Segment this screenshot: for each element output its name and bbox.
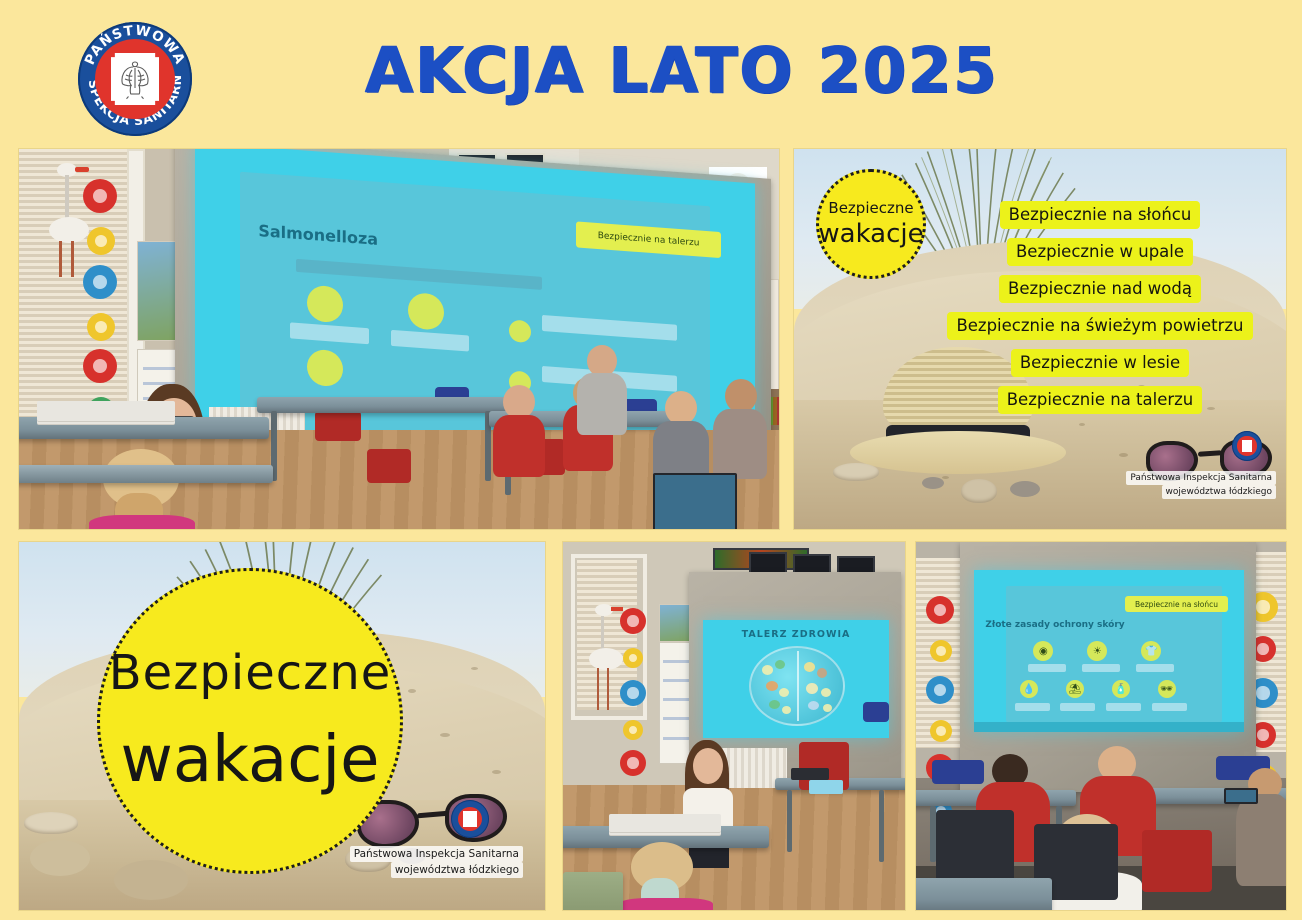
seashell-2 <box>833 463 879 481</box>
classroom-lecture-photo: Bezpiecznie na talerzu Salmonelloza <box>18 148 780 530</box>
slide-icon-5: ⛱ <box>1066 680 1084 698</box>
credit-line-2: województwa łódzkiego <box>1162 485 1276 499</box>
hat-brim <box>850 431 1066 474</box>
slide-title: Złote zasady ochrony skóry <box>974 620 1190 630</box>
slide-chip-heading: Bezpiecznie na słońcu <box>1125 596 1228 612</box>
panstwowa-inspekcja-sanitarna-logo: PAŃSTWOWA INSPEKCJA SANITARNA <box>78 22 192 136</box>
chair-red-1 <box>315 411 361 441</box>
tablet-screen <box>1226 790 1256 802</box>
slide-icon-4 <box>509 319 531 343</box>
badge-line-1: Bezpieczne <box>109 644 392 702</box>
chair-red-2 <box>367 449 411 483</box>
tablet-device <box>653 473 737 530</box>
credit-line-2: województwa łódzkiego <box>391 862 523 878</box>
polish-eagle-icon <box>117 58 153 100</box>
projected-slide: TALERZ ZDROWIA <box>703 620 889 738</box>
slide-taskbar <box>974 722 1244 732</box>
list-item: Bezpiecznie w lesie <box>1011 349 1189 377</box>
credit-line-1: Państwowa Inspekcja Sanitarna <box>350 846 523 862</box>
slide-title: TALERZ ZDROWIA <box>703 629 889 640</box>
sand-mound-2 <box>114 860 188 900</box>
list-item: Bezpiecznie na świeżym powietrzu <box>947 312 1252 340</box>
safety-tips-list: Bezpiecznie na słońcu Bezpiecznie w upal… <box>914 201 1286 414</box>
classroom-healthy-plate-photo: TALERZ ZDROWIA <box>562 541 906 911</box>
sand-mound-1 <box>30 840 90 876</box>
presenter-head <box>693 748 723 784</box>
credit-line-1: Państwowa Inspekcja Sanitarna <box>1126 471 1276 485</box>
pupil-foreground <box>615 842 715 911</box>
pupil-1 <box>489 385 549 481</box>
desk-note <box>809 780 843 794</box>
credit-block: Państwowa Inspekcja Sanitarna województw… <box>350 846 523 878</box>
keyboard <box>791 768 829 780</box>
sunglasses <box>357 794 527 852</box>
beach-tips-photo: Bezpieczne wakacje Bezpiecznie na słońcu… <box>793 148 1287 530</box>
badge-line-2: wakacje <box>120 722 379 798</box>
mini-sanitary-logo <box>1232 431 1262 461</box>
tablet-device <box>1224 788 1258 804</box>
projected-slide: Bezpiecznie na słońcu Złote zasady ochro… <box>974 570 1244 732</box>
supplies-box <box>563 872 623 911</box>
desk-row-1 <box>257 397 507 413</box>
seashell-2 <box>24 812 78 834</box>
seashell-1 <box>961 479 997 503</box>
poster-header: PAŃSTWOWA INSPEKCJA SANITARNA <box>0 0 1302 148</box>
paper-stack <box>609 814 721 832</box>
pupil-5 <box>709 379 771 483</box>
tablet-screen <box>655 475 735 530</box>
list-item: Bezpiecznie na talerzu <box>998 386 1203 414</box>
paper-stack <box>37 401 175 421</box>
poster-canvas: PAŃSTWOWA INSPEKCJA SANITARNA <box>0 0 1302 920</box>
pupil-3 <box>1236 768 1287 888</box>
list-item: Bezpiecznie nad wodą <box>999 275 1201 303</box>
healthy-plate-graphic <box>749 646 845 726</box>
chair-blue-1 <box>863 702 889 722</box>
page-title: AKCJA LATO 2025 <box>332 36 1032 106</box>
pupil-3 <box>575 345 631 437</box>
desk-foreground <box>915 878 1052 911</box>
sunglasses-bridge <box>1198 450 1222 457</box>
slide-icon-7: 🕶 <box>1158 680 1176 698</box>
credit-block: Państwowa Inspekcja Sanitarna województw… <box>1126 471 1276 499</box>
slide-icon-6: 🧴 <box>1112 680 1130 698</box>
desk-foreground-lower <box>18 465 273 483</box>
list-item: Bezpiecznie w upale <box>1007 238 1193 266</box>
bezpieczne-wakacje-badge-large: Bezpieczne wakacje <box>97 568 403 874</box>
paper-flower-garland <box>619 608 649 808</box>
mini-sanitary-logo <box>451 800 489 838</box>
list-item: Bezpiecznie na słońcu <box>1000 201 1201 229</box>
beach-badge-photo: Bezpieczne wakacje Państwowa Inspekcja S… <box>18 541 546 911</box>
classroom-pupils-photo: Bezpiecznie na słońcu Złote zasady ochro… <box>915 541 1287 911</box>
badge-line-1: Bezpieczne <box>828 199 913 217</box>
bezpieczne-wakacje-badge: Bezpieczne wakacje <box>816 169 926 279</box>
badge-line-2: wakacje <box>818 219 923 249</box>
chair-red-1 <box>1142 830 1212 892</box>
pebble-2 <box>922 477 944 489</box>
pupil-foreground <box>81 449 199 530</box>
slide-icon-4: 💧 <box>1020 680 1038 698</box>
